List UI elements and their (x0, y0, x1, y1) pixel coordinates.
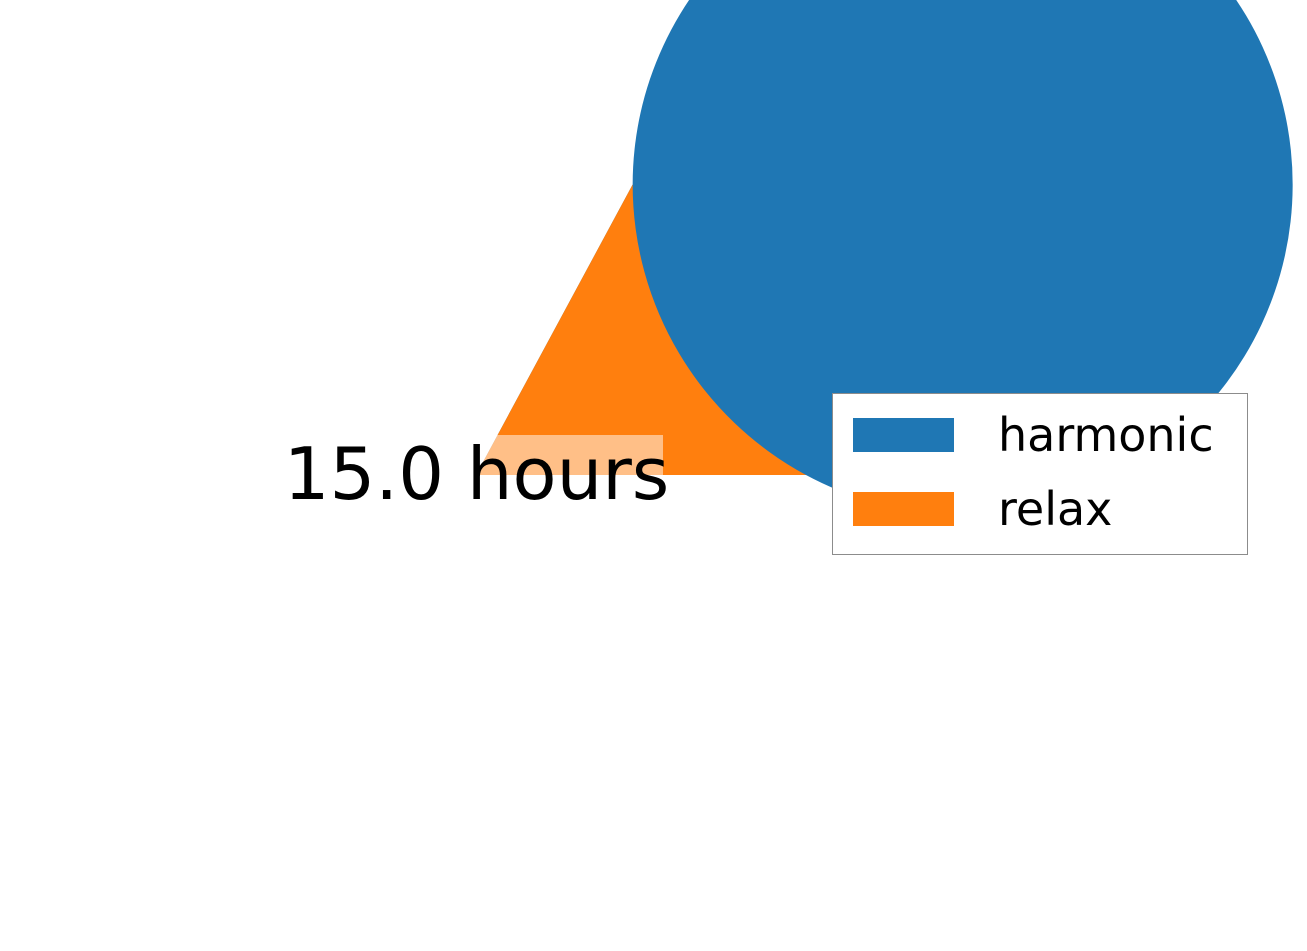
pie-chart-figure: 15.0 hours harmonic relax (0, 0, 1307, 951)
legend-label-relax: relax (998, 486, 1112, 532)
pie-label-harmonic: 15.0 hours (290, 435, 663, 513)
legend-swatch-relax (853, 492, 954, 526)
legend-item-harmonic[interactable]: harmonic (853, 412, 1214, 458)
chart-legend: harmonic relax (832, 393, 1248, 555)
legend-label-harmonic: harmonic (998, 412, 1214, 458)
legend-item-relax[interactable]: relax (853, 486, 1112, 532)
legend-swatch-harmonic (853, 418, 954, 452)
